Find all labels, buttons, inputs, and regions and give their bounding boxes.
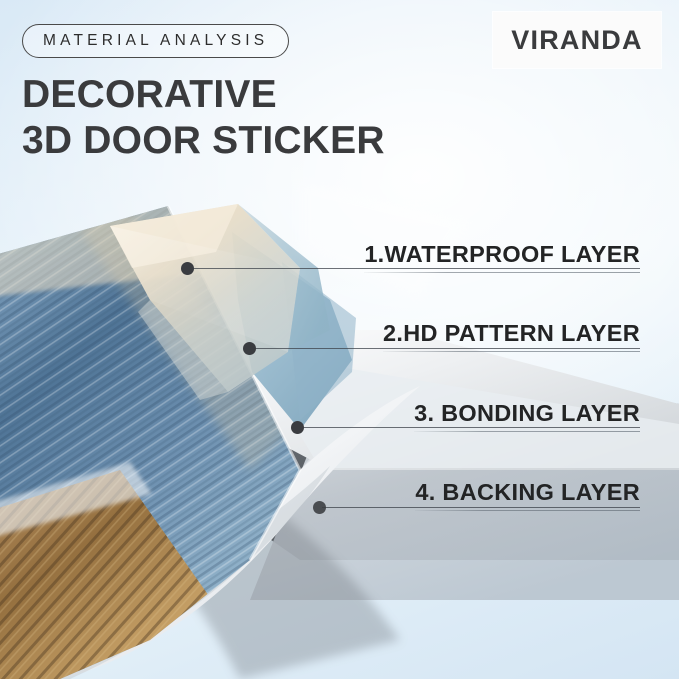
callout-dot-4 (313, 501, 326, 514)
callout-underline-3 (414, 431, 640, 432)
callout-group: 1.WATERPROOF LAYER 2.HD PATTERN LAYER 3.… (0, 0, 679, 679)
callout-label-1-text: 1.WATERPROOF LAYER (364, 241, 640, 272)
callout-label-4-text: 4. BACKING LAYER (415, 479, 640, 510)
callout-dot-3 (291, 421, 304, 434)
callout-label-3-text: 3. BONDING LAYER (414, 400, 640, 431)
callout-label-4: 4. BACKING LAYER (415, 479, 640, 511)
callout-label-2-text: 2.HD PATTERN LAYER (383, 320, 640, 351)
callout-label-3: 3. BONDING LAYER (414, 400, 640, 432)
callout-dot-2 (243, 342, 256, 355)
callout-underline-2 (383, 351, 640, 352)
callout-dot-1 (181, 262, 194, 275)
callout-label-1: 1.WATERPROOF LAYER (364, 241, 640, 273)
callout-label-2: 2.HD PATTERN LAYER (383, 320, 640, 352)
callout-underline-1 (364, 272, 640, 273)
poster-canvas: MATERIAL ANALYSIS DECORATIVE 3D DOOR STI… (0, 0, 679, 679)
callout-underline-4 (415, 510, 640, 511)
